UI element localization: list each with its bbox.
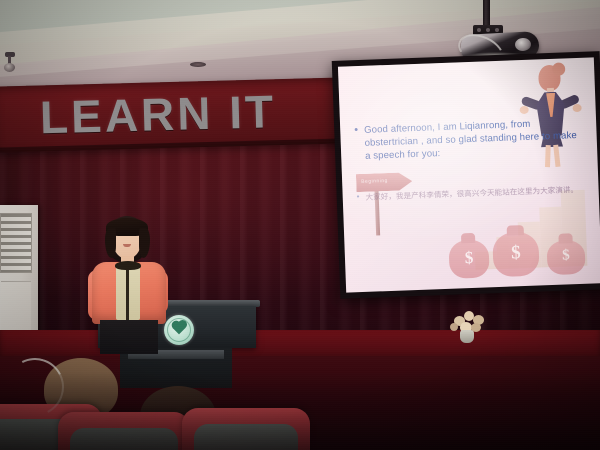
banner-text: LEARN IT — [39, 84, 340, 144]
slide-bullet-chinese-text: 大家好，我是产科李倩荣，很高兴今天能站在这里为大家演讲。 — [365, 184, 578, 203]
speaker-collar — [115, 261, 141, 270]
speaker-lower-body — [100, 320, 158, 354]
air-conditioner-vents — [0, 213, 32, 273]
speaker-hair-side-right — [139, 228, 150, 258]
slide-text-body: • Good afternoon, I am Liqianrong, from … — [354, 116, 581, 207]
audience-foreground — [0, 352, 600, 450]
ceiling-downlight-icon — [190, 62, 206, 67]
money-bag-dollar-icon: $ — [493, 241, 540, 265]
projector-mount-pole — [483, 0, 490, 28]
photo-scene: LEARN IT Beginn — [0, 0, 600, 450]
bullet-dot-icon: • — [357, 192, 360, 203]
speaker-zipper — [126, 266, 129, 320]
money-bag-dollar-icon: $ — [547, 247, 586, 265]
money-bag-dollar-icon: $ — [449, 248, 490, 269]
speaker-person — [78, 216, 182, 356]
wall-banner: LEARN IT — [0, 77, 347, 152]
slide-money-bags-graphic: $ $ $ — [442, 216, 594, 283]
theater-seat[interactable] — [182, 408, 310, 450]
projection-screen: Beginning $ $ $ • Good a — [338, 57, 600, 292]
flower-vase — [460, 330, 474, 343]
speaker-hair-side-left — [105, 228, 116, 258]
slide-bullet-english-text: Good afternoon, I am Liqianrong, from ob… — [364, 116, 579, 163]
slide-bullet-english: • Good afternoon, I am Liqianrong, from … — [354, 116, 579, 164]
sprinkler-icon — [2, 52, 18, 74]
bullet-dot-icon: • — [354, 124, 359, 164]
flower-arrangement — [444, 310, 490, 344]
theater-seat[interactable] — [58, 412, 190, 450]
projection-screen-frame: Beginning $ $ $ • Good a — [332, 51, 600, 299]
